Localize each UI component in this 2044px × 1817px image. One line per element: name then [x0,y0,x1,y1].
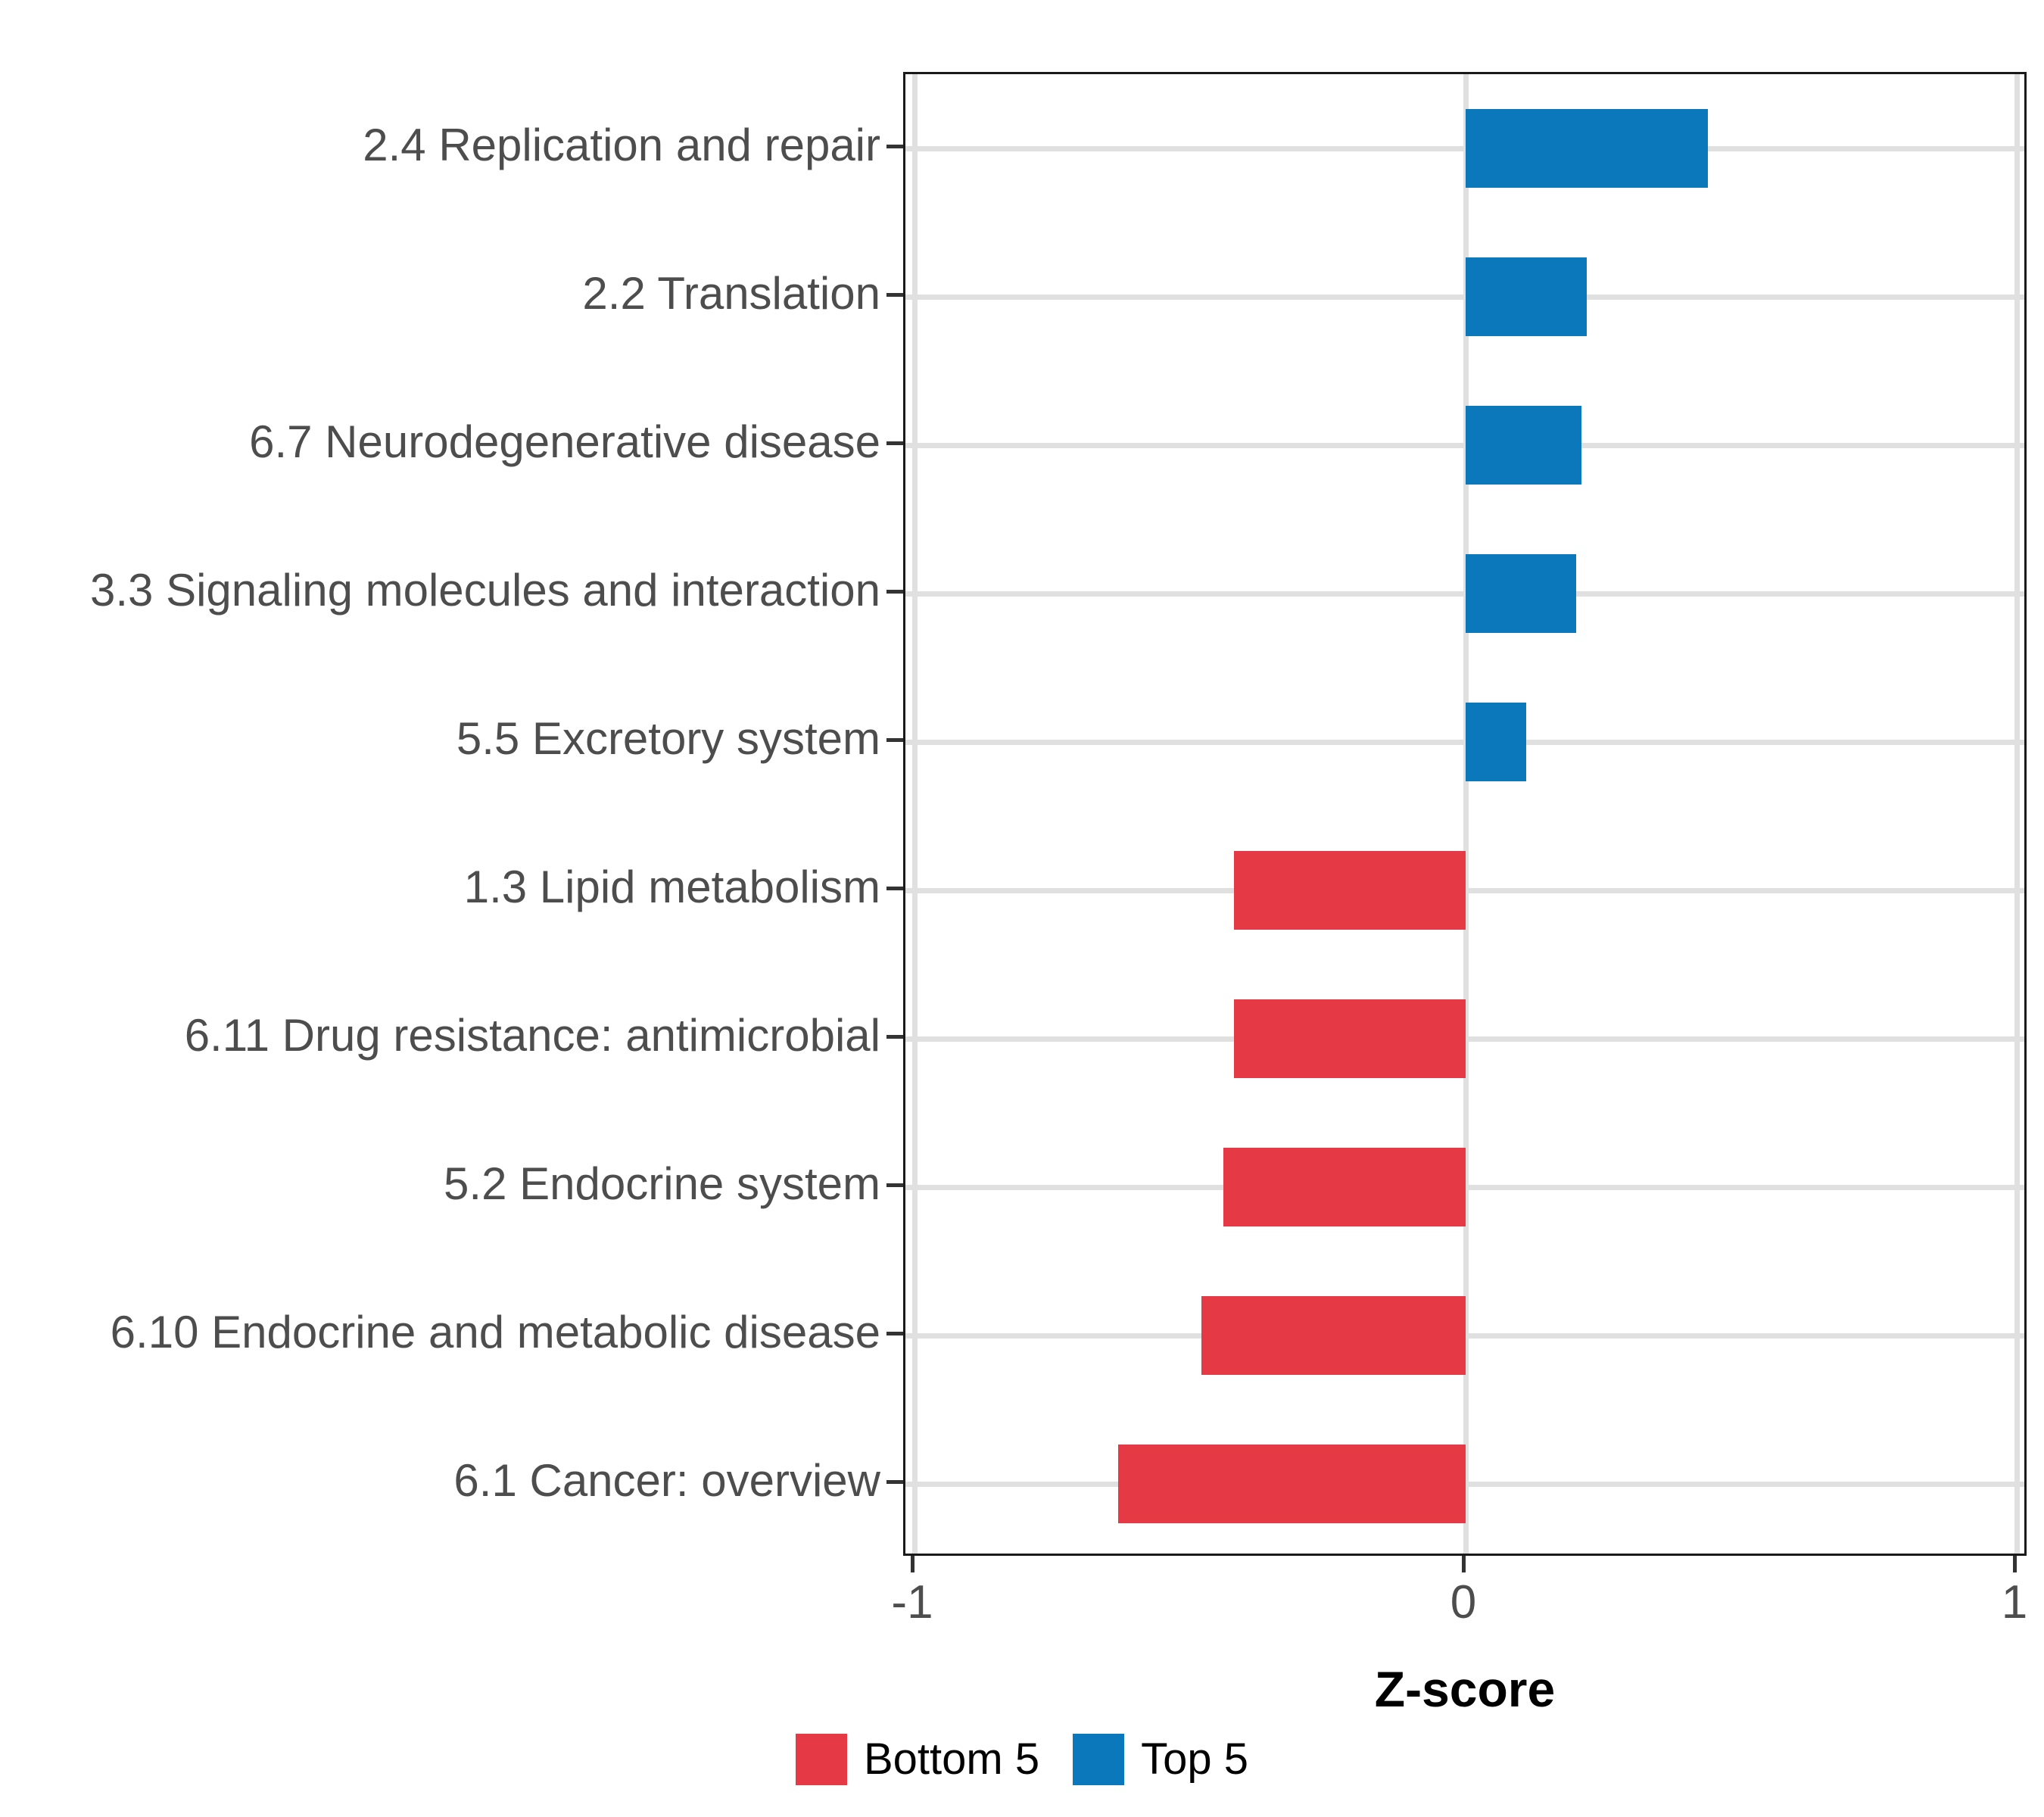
y-axis-tick-2 [886,441,903,445]
chart-figure: 2.4 Replication and repair 2.2 Translati… [0,0,2044,1817]
y-axis-tick-0 [886,145,903,148]
bar-7[interactable] [1223,1148,1466,1226]
y-axis-tick-3 [886,590,903,594]
y-axis-tick-5 [886,887,903,890]
y-axis-label-2: 6.7 Neurodegenerative disease [0,419,880,465]
y-axis-tick-4 [886,738,903,742]
plot-panel [903,72,2027,1556]
legend-swatch-bottom5 [796,1734,847,1785]
x-axis-tick-0 [911,1556,915,1572]
x-axis-tick-2 [2013,1556,2017,1572]
y-axis-tick-1 [886,293,903,297]
horizontal-gridline-2 [905,443,2024,448]
legend-swatch-top5 [1073,1734,1124,1785]
y-axis-tick-8 [886,1332,903,1335]
bar-4[interactable] [1466,703,1526,781]
bar-9[interactable] [1118,1445,1466,1523]
bar-2[interactable] [1466,406,1581,485]
y-axis-label-8: 6.10 Endocrine and metabolic disease [0,1310,880,1355]
bar-1[interactable] [1466,257,1587,336]
y-axis-label-9: 6.1 Cancer: overview [0,1458,880,1504]
y-axis-tick-6 [886,1035,903,1039]
bar-3[interactable] [1466,554,1576,633]
horizontal-gridline-1 [905,295,2024,300]
x-axis-title: Z-score [903,1664,2027,1714]
y-axis-label-3: 3.3 Signaling molecules and interaction [0,568,880,613]
horizontal-gridline-0 [905,146,2024,151]
legend-item-top5[interactable]: Top 5 [1073,1734,1248,1785]
y-axis-label-0: 2.4 Replication and repair [0,123,880,168]
y-axis-label-4: 5.5 Excretory system [0,716,880,762]
x-axis-tick-1 [1462,1556,1466,1572]
legend-label-bottom5: Bottom 5 [864,1738,1039,1781]
legend-label-top5: Top 5 [1141,1738,1248,1781]
y-axis-label-1: 2.2 Translation [0,271,880,316]
bar-8[interactable] [1201,1296,1466,1375]
y-axis-tick-7 [886,1183,903,1187]
legend-item-bottom5[interactable]: Bottom 5 [796,1734,1039,1785]
x-axis-tick-label-2: 1 [1901,1579,2044,1626]
y-axis-label-7: 5.2 Endocrine system [0,1161,880,1207]
x-axis-tick-label-1: 0 [1350,1579,1577,1626]
x-axis-tick-label-0: -1 [799,1579,1026,1626]
plot-inner [905,74,2024,1554]
y-axis-label-6: 6.11 Drug resistance: antimicrobial [0,1013,880,1058]
bar-5[interactable] [1234,851,1466,930]
horizontal-gridline-4 [905,740,2024,745]
horizontal-gridline-3 [905,591,2024,597]
y-axis-labels: 2.4 Replication and repair 2.2 Translati… [0,0,880,1817]
y-axis-tick-9 [886,1480,903,1484]
legend: Bottom 5 Top 5 [0,1734,2044,1785]
bar-6[interactable] [1234,999,1466,1078]
bar-0[interactable] [1466,109,1708,188]
y-axis-label-5: 1.3 Lipid metabolism [0,865,880,910]
